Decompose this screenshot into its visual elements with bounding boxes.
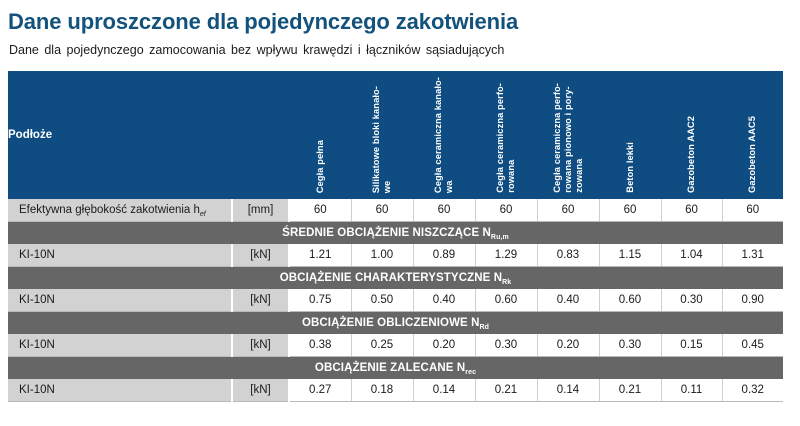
column-header-label: Cegła ceramiczna kanało- wa	[433, 77, 455, 193]
section-band-subscript: Rd	[480, 324, 490, 331]
data-cell: 0.20	[537, 334, 599, 357]
data-cell: 0.32	[722, 379, 783, 402]
row-label-text: KI-10N	[19, 249, 55, 261]
section-band-label: OBCIĄŻENIE ZALECANE Nrec	[8, 357, 783, 380]
row-label-text: KI-10N	[19, 294, 55, 306]
header-substrate-label: Podłoże	[8, 71, 232, 199]
data-cell: 0.60	[599, 289, 661, 312]
column-header-4: Cegła ceramiczna perfo- rowana	[475, 71, 537, 199]
column-header-label: Gazobeton AAC2	[686, 116, 697, 193]
column-header-7: Gazobeton AAC2	[661, 71, 722, 199]
section-band-row: ŚREDNIE OBCIĄŻENIE NISZCZĄCE NRu,m	[8, 222, 783, 245]
row-unit-cell: [kN]	[232, 379, 289, 402]
data-cell: 60	[289, 199, 351, 222]
section-band-text: OBCIĄŻENIE CHARAKTERYSTYCZNE N	[280, 272, 502, 284]
page-title: Dane uproszczone dla pojedynczego zakotw…	[8, 9, 518, 35]
data-cell: 60	[661, 199, 722, 222]
column-header-label: Gazobeton AAC5	[747, 116, 758, 193]
column-header-rotate-wrap: Cegła pełna	[289, 71, 351, 193]
column-header-rotate-wrap: Cegła ceramiczna perfo- rowana pionowo i…	[537, 71, 599, 193]
section-band-subscript: Rk	[502, 279, 511, 286]
data-cell: 0.50	[351, 289, 413, 312]
data-cell: 1.04	[661, 244, 722, 267]
column-header-8: Gazobeton AAC5	[722, 71, 783, 199]
row-label-text: Efektywna głębokość zakotwienia h	[19, 204, 200, 216]
column-header-rotate-wrap: Beton lekki	[599, 71, 661, 193]
row-label-cell: KI-10N	[8, 379, 232, 402]
data-cell: 0.11	[661, 379, 722, 402]
column-header-label: Beton lekki	[625, 142, 636, 193]
data-cell: 0.30	[599, 334, 661, 357]
section-band-label: OBCIĄŻENIE CHARAKTERYSTYCZNE NRk	[8, 267, 783, 290]
data-cell: 0.20	[413, 334, 475, 357]
data-cell: 60	[475, 199, 537, 222]
row-label-cell: KI-10N	[8, 244, 232, 267]
row-unit-cell: [kN]	[232, 334, 289, 357]
data-cell: 0.40	[413, 289, 475, 312]
data-cell: 0.18	[351, 379, 413, 402]
section-band-row: OBCIĄŻENIE CHARAKTERYSTYCZNE NRk	[8, 267, 783, 290]
column-header-rotate-wrap: Cegła ceramiczna kanało- wa	[413, 71, 475, 193]
data-cell: 0.89	[413, 244, 475, 267]
section-band-text: ŚREDNIE OBCIĄŻENIE NISZCZĄCE N	[282, 227, 491, 239]
section-band-text: OBCIĄŻENIE ZALECANE N	[315, 362, 465, 374]
section-band-label: OBCIĄŻENIE OBLICZENIOWE NRd	[8, 312, 783, 335]
table-row: KI-10N[kN]0.270.180.140.210.140.210.110.…	[8, 379, 783, 402]
section-band-label: ŚREDNIE OBCIĄŻENIE NISZCZĄCE NRu,m	[8, 222, 783, 245]
data-cell: 0.27	[289, 379, 351, 402]
table-body: Efektywna głębokość zakotwienia hef[mm]6…	[8, 199, 783, 402]
column-header-rotate-wrap: Cegła ceramiczna perfo- rowana	[475, 71, 537, 193]
row-unit-cell: [kN]	[232, 289, 289, 312]
column-header-label: Silikatowe bloki kanało- we	[371, 86, 393, 193]
data-cell: 60	[413, 199, 475, 222]
header-unit-cell	[232, 71, 289, 199]
data-cell: 0.60	[475, 289, 537, 312]
row-label-cell: KI-10N	[8, 289, 232, 312]
data-cell: 1.29	[475, 244, 537, 267]
data-cell: 1.15	[599, 244, 661, 267]
column-header-5: Cegła ceramiczna perfo- rowana pionowo i…	[537, 71, 599, 199]
data-cell: 0.38	[289, 334, 351, 357]
datasheet-page: Dane uproszczone dla pojedynczego zakotw…	[0, 0, 800, 426]
column-header-1: Cegła pełna	[289, 71, 351, 199]
column-header-rotate-wrap: Gazobeton AAC2	[661, 71, 722, 193]
column-header-label: Cegła pełna	[315, 140, 326, 193]
section-band-text: OBCIĄŻENIE OBLICZENIOWE N	[302, 317, 480, 329]
data-cell: 1.00	[351, 244, 413, 267]
data-cell: 0.14	[413, 379, 475, 402]
data-cell: 60	[599, 199, 661, 222]
row-unit-cell: [kN]	[232, 244, 289, 267]
data-cell: 60	[722, 199, 783, 222]
table-row: KI-10N[kN]1.211.000.891.290.831.151.041.…	[8, 244, 783, 267]
data-cell: 1.31	[722, 244, 783, 267]
data-cell: 1.21	[289, 244, 351, 267]
column-header-6: Beton lekki	[599, 71, 661, 199]
row-label-text: KI-10N	[19, 339, 55, 351]
row-label-subscript: ef	[200, 211, 206, 218]
data-cell: 0.14	[537, 379, 599, 402]
data-cell: 0.30	[661, 289, 722, 312]
data-cell: 0.45	[722, 334, 783, 357]
section-band-subscript: rec	[465, 369, 476, 376]
data-cell: 0.40	[537, 289, 599, 312]
data-cell: 0.25	[351, 334, 413, 357]
row-unit-cell: [mm]	[232, 199, 289, 222]
data-cell: 0.30	[475, 334, 537, 357]
column-header-rotate-wrap: Gazobeton AAC5	[722, 71, 783, 193]
data-cell: 0.75	[289, 289, 351, 312]
anchor-data-table: Podłoże Cegła pełnaSilikatowe bloki kana…	[8, 71, 783, 402]
data-cell: 0.83	[537, 244, 599, 267]
header-row: Podłoże Cegła pełnaSilikatowe bloki kana…	[8, 71, 783, 199]
data-cell: 0.15	[661, 334, 722, 357]
section-band-row: OBCIĄŻENIE ZALECANE Nrec	[8, 357, 783, 380]
column-header-label: Cegła ceramiczna perfo- rowana pionowo i…	[552, 83, 585, 193]
data-cell: 60	[351, 199, 413, 222]
data-cell: 0.90	[722, 289, 783, 312]
column-header-2: Silikatowe bloki kanało- we	[351, 71, 413, 199]
column-header-3: Cegła ceramiczna kanało- wa	[413, 71, 475, 199]
data-cell: 60	[537, 199, 599, 222]
table-row: Efektywna głębokość zakotwienia hef[mm]6…	[8, 199, 783, 222]
column-header-label: Cegła ceramiczna perfo- rowana	[495, 83, 517, 193]
data-cell: 0.21	[599, 379, 661, 402]
row-label-text: KI-10N	[19, 384, 55, 396]
table-row: KI-10N[kN]0.380.250.200.300.200.300.150.…	[8, 334, 783, 357]
row-label-cell: Efektywna głębokość zakotwienia hef	[8, 199, 232, 222]
page-subtitle: Dane dla pojedynczego zamocowania bez wp…	[9, 43, 504, 57]
row-label-cell: KI-10N	[8, 334, 232, 357]
section-band-subscript: Ru,m	[491, 234, 509, 241]
column-header-rotate-wrap: Silikatowe bloki kanało- we	[351, 71, 413, 193]
table-row: KI-10N[kN]0.750.500.400.600.400.600.300.…	[8, 289, 783, 312]
table-header: Podłoże Cegła pełnaSilikatowe bloki kana…	[8, 71, 783, 199]
section-band-row: OBCIĄŻENIE OBLICZENIOWE NRd	[8, 312, 783, 335]
data-cell: 0.21	[475, 379, 537, 402]
